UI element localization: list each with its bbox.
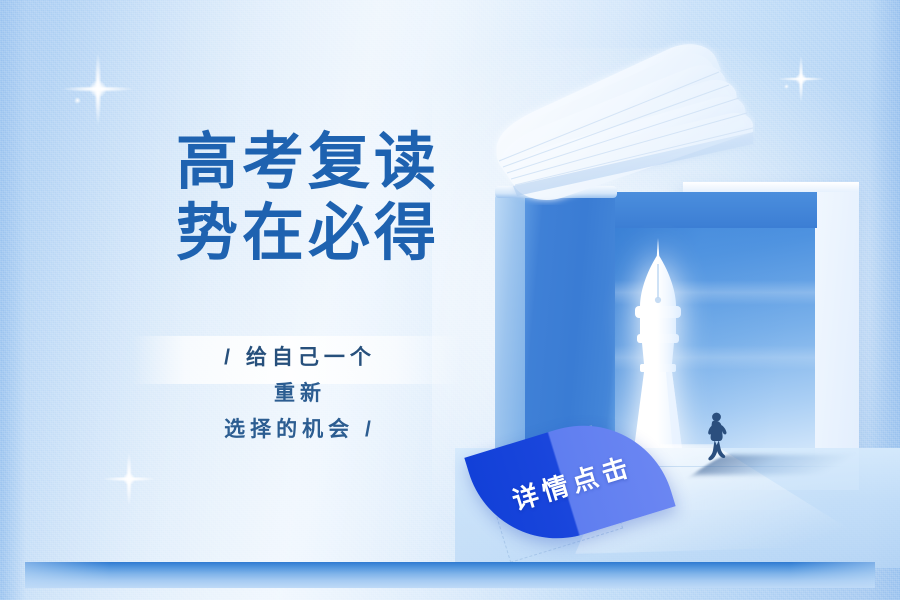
running-person-silhouette-icon bbox=[703, 412, 729, 464]
bottom-accent-bar-fade bbox=[25, 562, 875, 588]
subtitle-line-1: / 给自己一个 bbox=[130, 340, 470, 376]
headline-line-2: 势在必得 bbox=[128, 199, 488, 270]
headline-line-1: 高考复读 bbox=[128, 128, 488, 199]
book-fanned-pages-icon bbox=[475, 40, 755, 205]
subtitle-line-2: 重新 bbox=[130, 376, 470, 412]
subtitle-line-3: 选择的机会 / bbox=[130, 412, 470, 448]
poster-canvas: 高考复读 势在必得 / 给自己一个 重新 选择的机会 / 详情点击 bbox=[0, 0, 900, 600]
subtitle-block: / 给自己一个 重新 选择的机会 / bbox=[130, 340, 470, 448]
headline-block: 高考复读 势在必得 bbox=[128, 128, 488, 269]
